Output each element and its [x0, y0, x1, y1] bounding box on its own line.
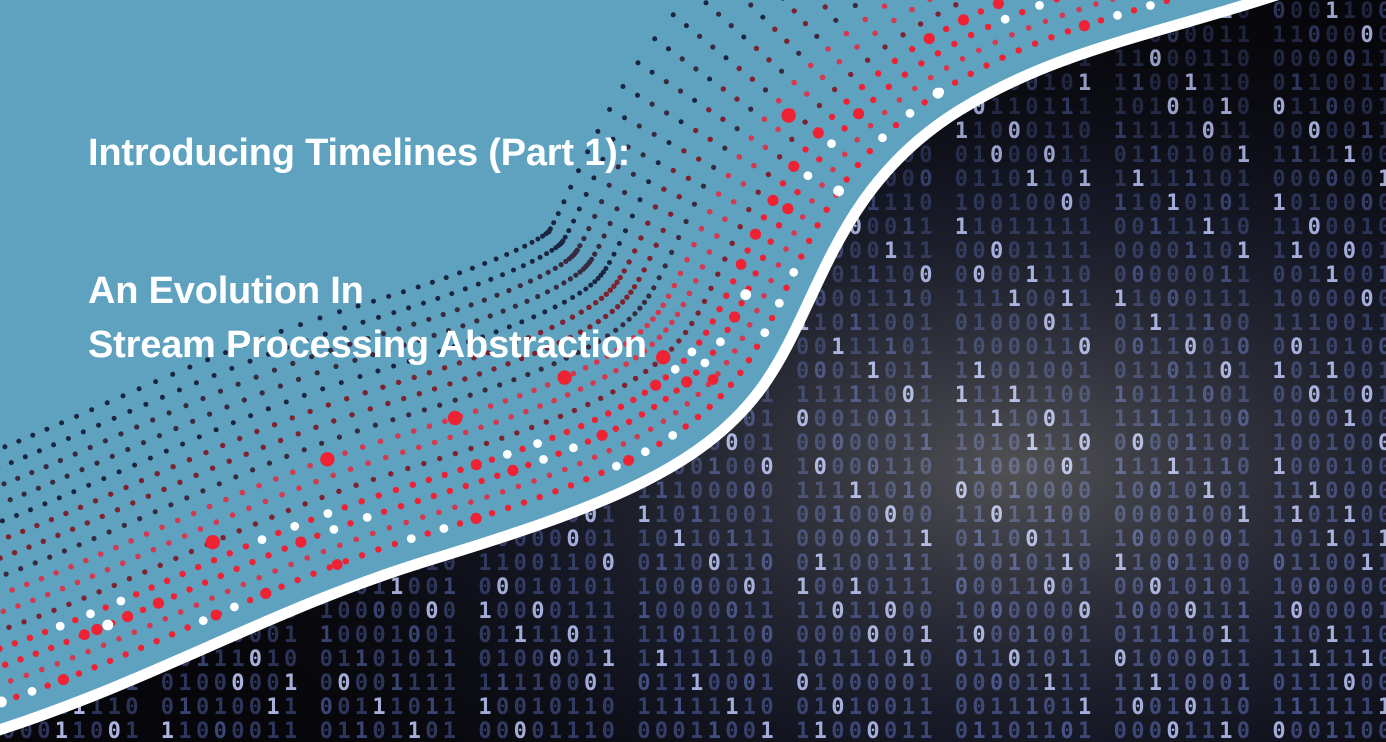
hero-graphic: 0001100111000011011011010000111000011001… [0, 0, 1386, 742]
hero-banner: 0001100111000011011011010000111000011001… [0, 0, 1386, 742]
